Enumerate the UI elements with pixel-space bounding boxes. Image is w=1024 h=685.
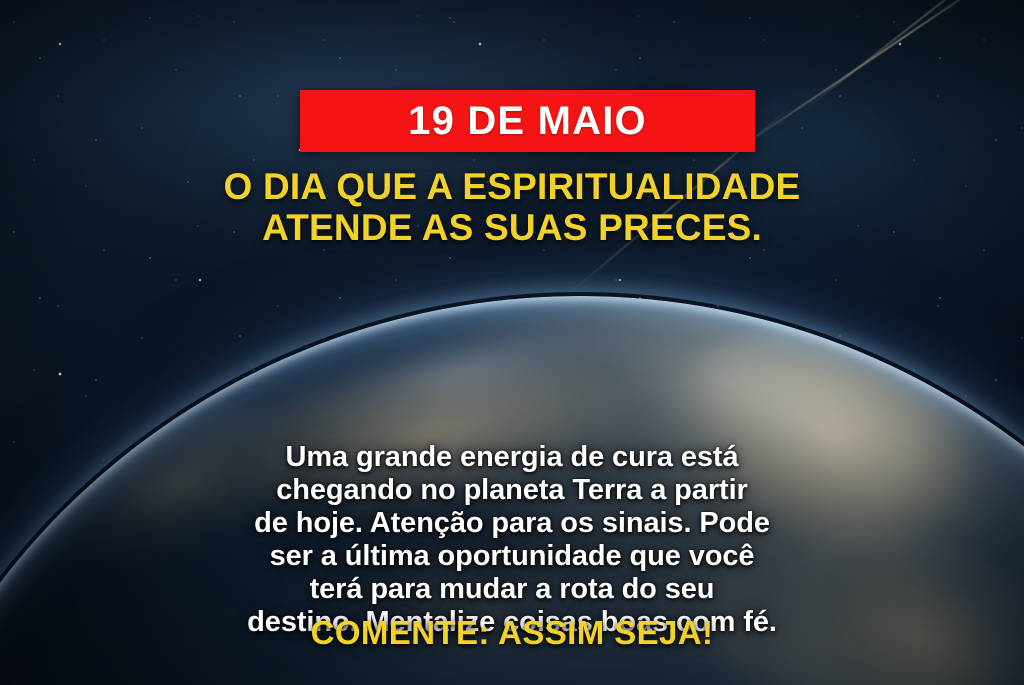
body-copy-line-5: terá para mudar a rota do seu: [0, 573, 1024, 606]
body-copy-line-3: de hoje. Atenção para os sinais. Pode: [0, 507, 1024, 540]
date-banner: 19 DE MAIO: [300, 90, 755, 152]
poster-content: 19 DE MAIO O DIA QUE A ESPIRITUALIDADE A…: [0, 0, 1024, 685]
body-copy: Uma grande energia de cura está chegando…: [0, 441, 1024, 639]
date-banner-label: 19 DE MAIO: [408, 101, 647, 141]
body-copy-line-2: chegando no planeta Terra a partir: [0, 474, 1024, 507]
poster-image: 19 DE MAIO O DIA QUE A ESPIRITUALIDADE A…: [0, 0, 1024, 685]
headline: O DIA QUE A ESPIRITUALIDADE ATENDE AS SU…: [0, 166, 1024, 249]
call-to-action-label: COMENTE: ASSIM SEJA!: [0, 614, 1024, 652]
body-copy-line-1: Uma grande energia de cura está: [0, 441, 1024, 474]
headline-line-2: ATENDE AS SUAS PRECES.: [0, 207, 1024, 248]
headline-line-1: O DIA QUE A ESPIRITUALIDADE: [0, 166, 1024, 207]
body-copy-line-4: ser a última oportunidade que você: [0, 540, 1024, 573]
